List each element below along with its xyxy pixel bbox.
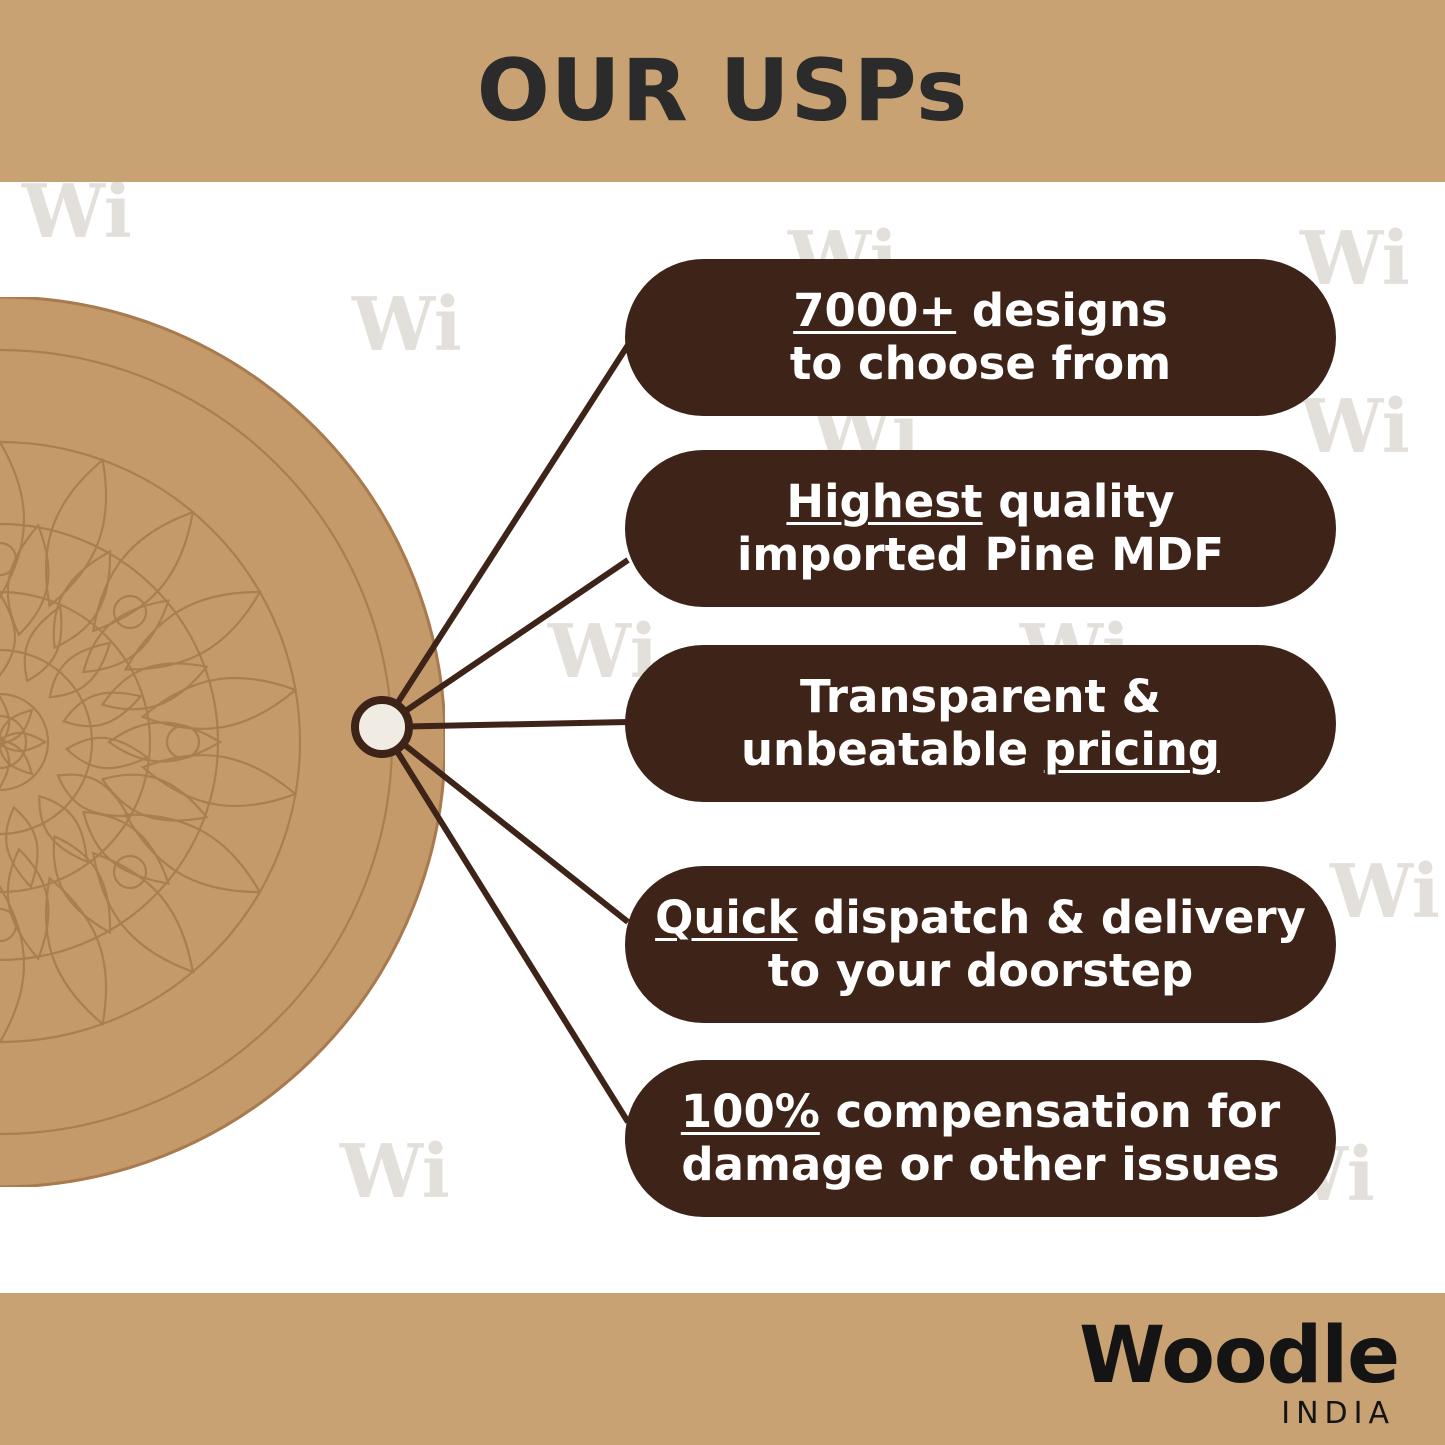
hub-node: [355, 700, 409, 754]
usp-pill-line2: damage or other issues: [681, 1139, 1279, 1191]
usp-pill-line1: Quick dispatch & delivery: [655, 892, 1306, 944]
usp-highlight: Highest: [786, 475, 982, 528]
usp-text: Transparent &: [800, 670, 1161, 723]
usp-text: to choose from: [790, 337, 1171, 390]
usp-text: dispatch & delivery: [797, 891, 1305, 944]
usp-pill-line2: to choose from: [790, 338, 1171, 390]
usp-pill-line1: Transparent &: [800, 671, 1161, 723]
usp-text: compensation for: [820, 1085, 1280, 1138]
usp-pill-line2: imported Pine MDF: [737, 529, 1224, 581]
usp-pill-pricing[interactable]: Transparent & unbeatable pricing: [625, 645, 1336, 802]
usp-highlight: pricing: [1044, 723, 1220, 776]
usp-pill-line2: unbeatable pricing: [741, 724, 1220, 776]
usp-text: to your doorstep: [768, 944, 1194, 997]
usp-text: quality: [983, 475, 1175, 528]
usp-text: damage or other issues: [681, 1138, 1279, 1191]
usp-pill-line1: 100% compensation for: [681, 1086, 1280, 1138]
usp-text: designs: [956, 284, 1168, 337]
usp-infographic: Wi Wi Wi Wi Wi Wi Wi Wi Wi Wi Wi: [0, 0, 1445, 1445]
usp-text: unbeatable: [741, 723, 1044, 776]
usp-text: imported Pine MDF: [737, 528, 1224, 581]
usp-pill-compensation[interactable]: 100% compensation for damage or other is…: [625, 1060, 1336, 1217]
usp-pill-line1: 7000+ designs: [793, 285, 1168, 337]
usp-highlight: Quick: [655, 891, 797, 944]
usp-pill-line2: to your doorstep: [768, 945, 1194, 997]
usp-pill-designs[interactable]: 7000+ designs to choose from: [625, 259, 1336, 416]
usp-pill-line1: Highest quality: [786, 476, 1174, 528]
usp-highlight: 100%: [681, 1085, 820, 1138]
usp-pill-dispatch[interactable]: Quick dispatch & delivery to your doorst…: [625, 866, 1336, 1023]
usp-pill-quality[interactable]: Highest quality imported Pine MDF: [625, 450, 1336, 607]
usp-highlight: 7000+: [793, 284, 956, 337]
